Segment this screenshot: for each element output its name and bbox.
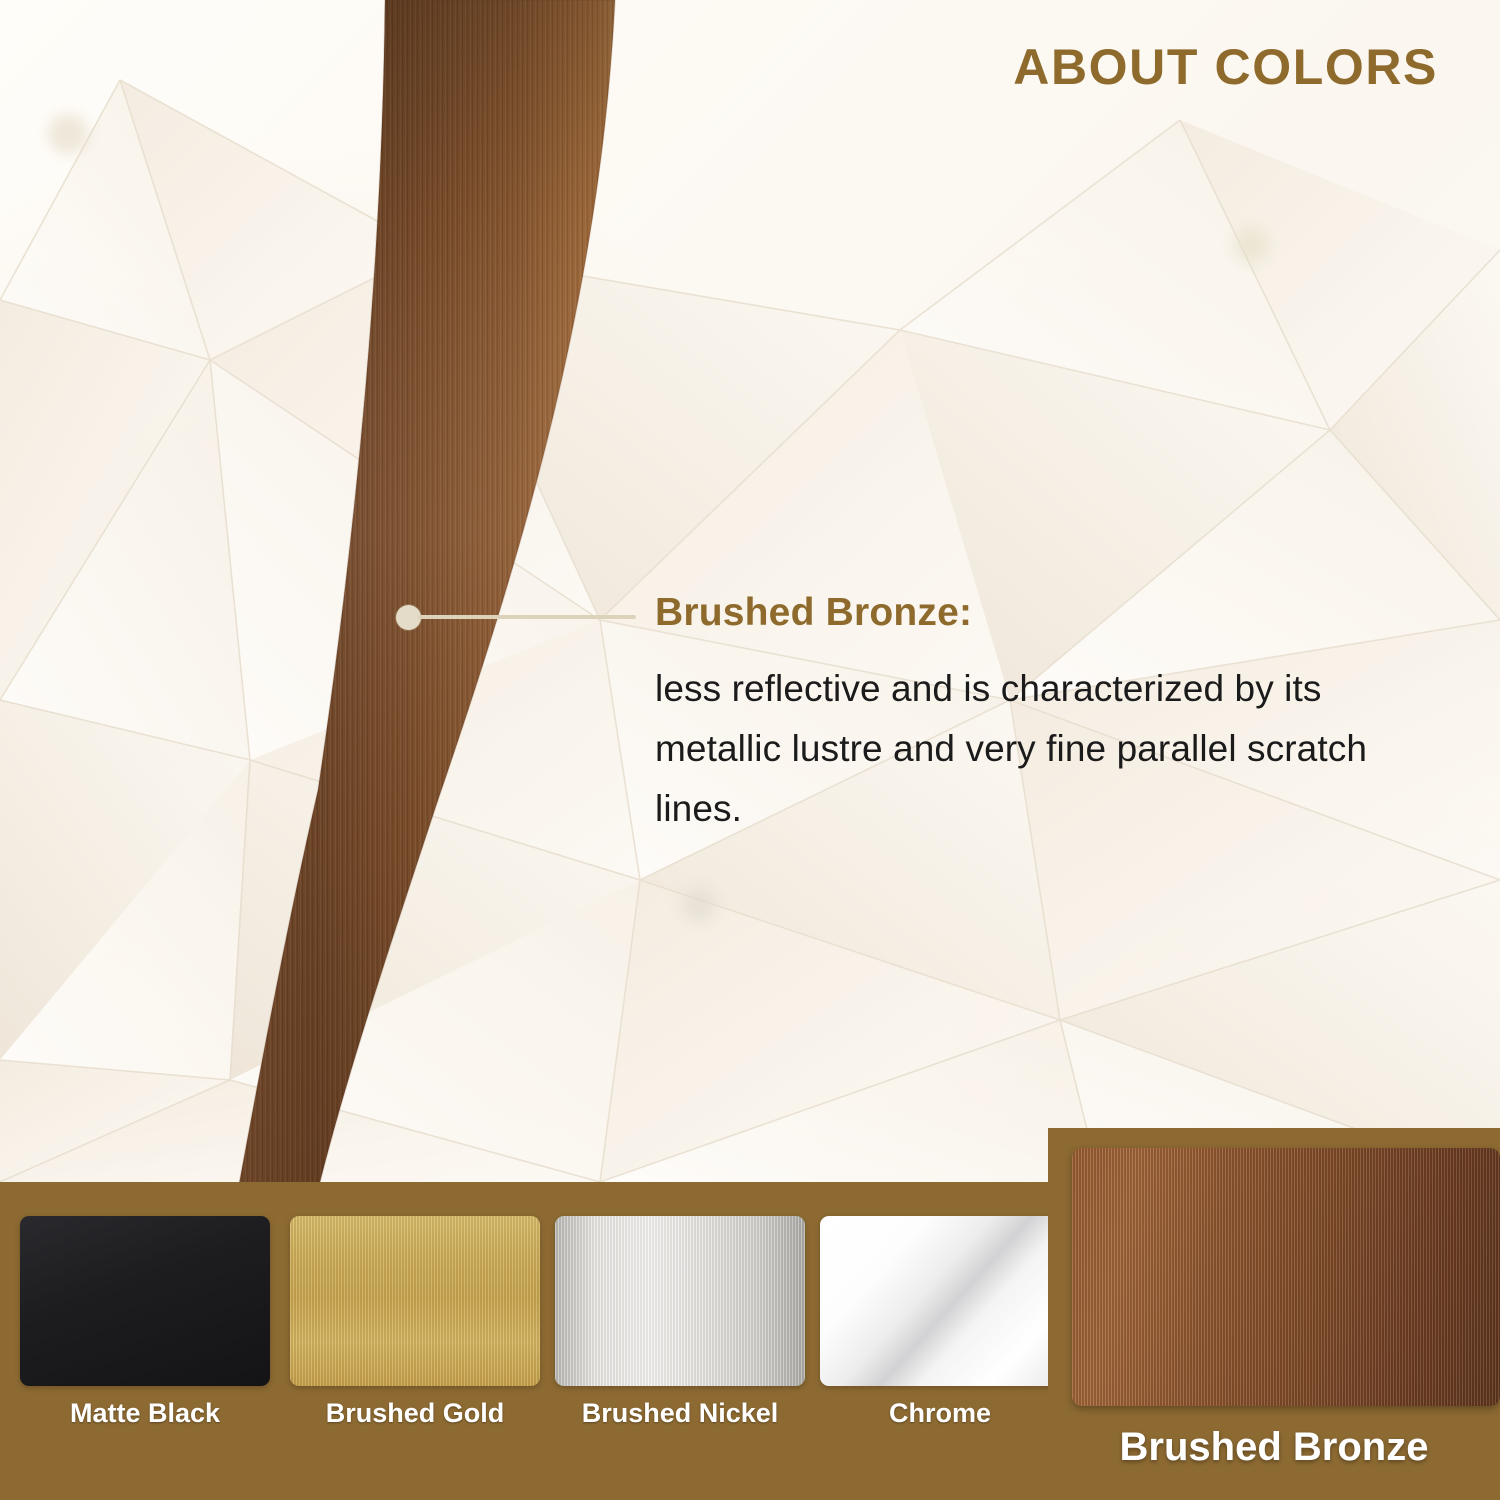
page-title: ABOUT COLORS (1013, 38, 1438, 96)
callout-text-block: Brushed Bronze: less reflective and is c… (655, 592, 1445, 840)
callout-title: Brushed Bronze: (655, 592, 1445, 635)
swatch-label-brushed-gold: Brushed Gold (290, 1398, 540, 1429)
swatch-label-matte-black: Matte Black (20, 1398, 270, 1429)
callout-leader-line (418, 615, 636, 619)
callout-body: less reflective and is characterized by … (655, 659, 1445, 840)
swatch-matte-black[interactable] (20, 1216, 270, 1386)
swatch-label-chrome: Chrome (820, 1398, 1060, 1429)
infographic-canvas: ABOUT COLORS Brushed Bronze: less reflec… (0, 0, 1500, 1500)
swatch-brushed-nickel[interactable] (555, 1216, 805, 1386)
swatch-chrome[interactable] (820, 1216, 1060, 1386)
swatch-label-brushed-bronze: Brushed Bronze (1048, 1425, 1500, 1470)
swatch-brushed-bronze[interactable] (1072, 1148, 1500, 1406)
swatch-label-brushed-nickel: Brushed Nickel (555, 1398, 805, 1429)
swatch-brushed-gold[interactable] (290, 1216, 540, 1386)
